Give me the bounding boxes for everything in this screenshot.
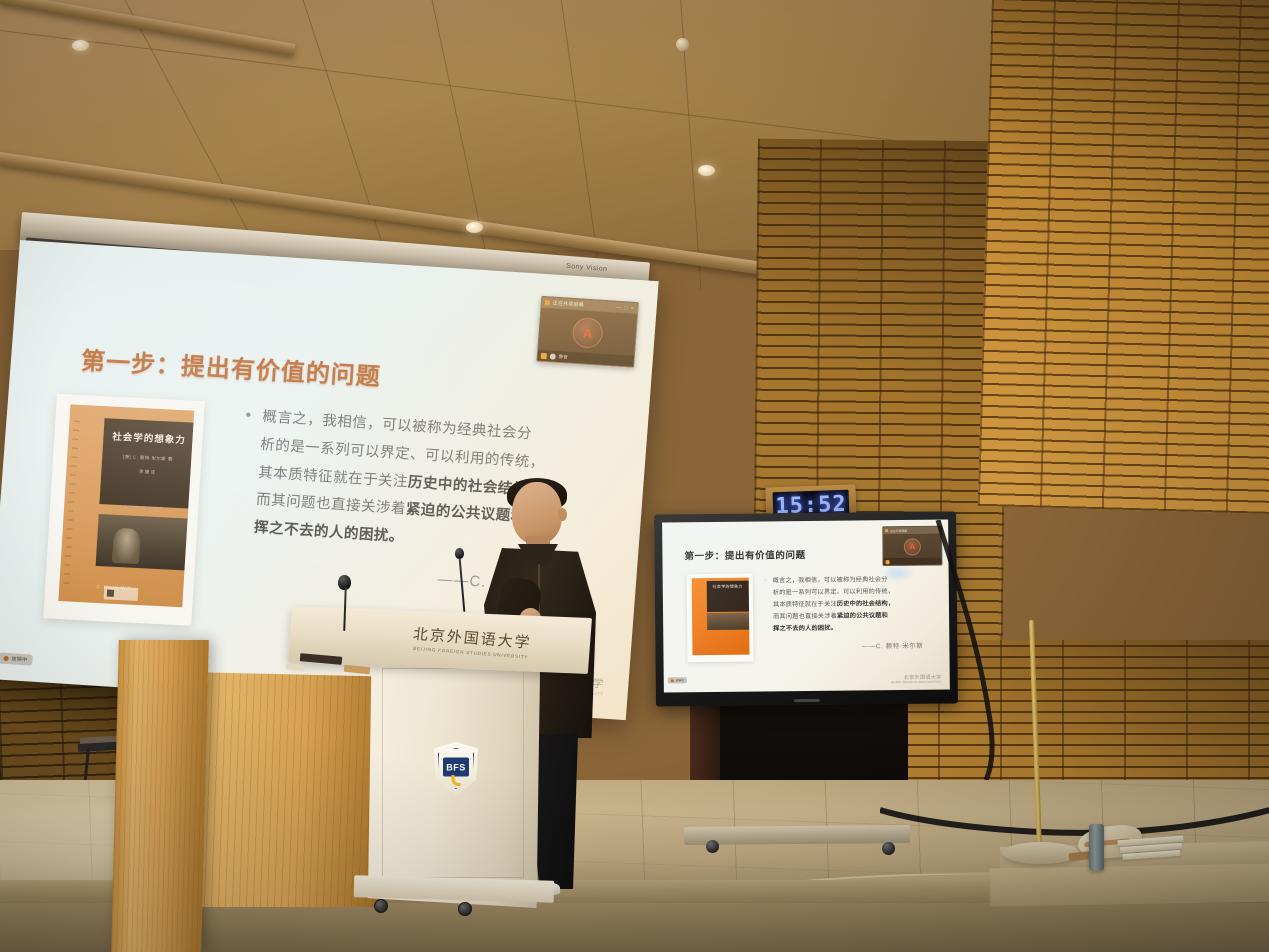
- side-riser-step: [990, 863, 1269, 906]
- tv-screen-share-icon: [885, 529, 888, 532]
- slide-bullet-icon: •: [245, 407, 252, 425]
- lecture-hall-photo: Sony Vision 第一步：提出有价值的问题 社会学的想象力 [美] C. …: [0, 0, 1269, 952]
- tv-avatar: A: [904, 538, 921, 555]
- tv-microphone-icon: [885, 560, 889, 564]
- tv-brand-plate: [794, 699, 820, 702]
- ceiling-downlight-icon: [72, 40, 89, 51]
- tv-status-label: 放映中: [676, 678, 684, 682]
- emblem-j-hook-icon: [452, 775, 461, 786]
- presenter-ear: [558, 508, 567, 521]
- screen-glare: [881, 566, 915, 580]
- slideshow-toolbar[interactable]: 放映中: [0, 652, 33, 665]
- video-call-title: 正在共享屏幕: [553, 300, 585, 309]
- lectern-caster-icon: [458, 902, 472, 916]
- video-call-window[interactable]: 正在共享屏幕 — □ × A 静音: [536, 296, 639, 368]
- cart-caster-icon: [706, 840, 719, 853]
- lectern: 1941 BFS 北京外国语大学 BEIJING FOREIGN STUDIES…: [348, 612, 588, 912]
- avatar: A: [572, 317, 604, 349]
- tv-slide-attribution: ——C. 赖特·米尔斯: [862, 640, 924, 651]
- presenter-head: [512, 482, 562, 544]
- tv-video-call-title: 正在共享屏幕: [890, 528, 907, 532]
- water-bottle: [1089, 824, 1104, 870]
- tv-screen: 第一步：提出有价值的问题 社会学的想象力 · 概言之，我相信，可以被称为经典社会…: [662, 520, 950, 693]
- tv-slideshow-toolbar: 放映中: [668, 677, 687, 683]
- flat-panel-tv: 第一步：提出有价值的问题 社会学的想象力 · 概言之，我相信，可以被称为经典社会…: [654, 511, 958, 706]
- emblem-letters: BFS: [446, 762, 466, 772]
- slideshow-status-label: 放映中: [11, 655, 27, 663]
- university-emblem: 1941 BFS: [434, 742, 478, 796]
- tv-status-dot-icon: [671, 679, 674, 682]
- avatar-letter: A: [582, 325, 592, 341]
- lectern-body: 1941 BFS: [368, 660, 540, 908]
- mute-status-label: 静音: [559, 354, 568, 361]
- wall-brick-right: [978, 0, 1269, 514]
- window-controls[interactable]: — □ ×: [616, 304, 635, 311]
- tv-book-title: 社会学的想象力: [708, 584, 748, 590]
- floor-cable: [880, 780, 1269, 840]
- slideshow-status-dot-icon: [3, 656, 8, 661]
- tv-slide-title: 第一步：提出有价值的问题: [684, 547, 805, 562]
- book-publisher-mark: [104, 586, 139, 601]
- microphone-icon[interactable]: [541, 352, 547, 358]
- stack-of-books: [1117, 836, 1184, 863]
- slide-title: 第一步：提出有价值的问题: [80, 341, 382, 392]
- screen-case-brand-label: Sony Vision: [566, 263, 608, 273]
- tv-bullet-icon: ·: [765, 577, 767, 583]
- lectern-caster-icon: [374, 899, 388, 913]
- emblem-year: 1941: [451, 757, 462, 762]
- camera-icon[interactable]: [550, 353, 556, 359]
- ceiling-downlight-icon: [698, 165, 715, 176]
- wooden-column-left: [111, 640, 209, 952]
- cart-caster-icon: [882, 842, 895, 855]
- ceiling-downlight-icon: [466, 222, 483, 233]
- screen-share-icon: [545, 300, 550, 305]
- tv-quote-text: 概言之，我相信，可以被称为经典社会分 析的是一系列可以界定、可以利用的传统， 其…: [773, 574, 926, 636]
- wall-cable: [934, 520, 1004, 780]
- ceiling-speaker-icon: [676, 38, 689, 51]
- lectern-university-name: 北京外国语大学 BEIJING FOREIGN STUDIES UNIVERSI…: [401, 622, 544, 661]
- slide-book-image: 社会学的想象力 [美] C. 赖特·米尔斯 著 李 康 译 睿文馆 三辉书系 C…: [43, 394, 205, 626]
- tv-slide-book-image: 社会学的想象力: [687, 574, 754, 663]
